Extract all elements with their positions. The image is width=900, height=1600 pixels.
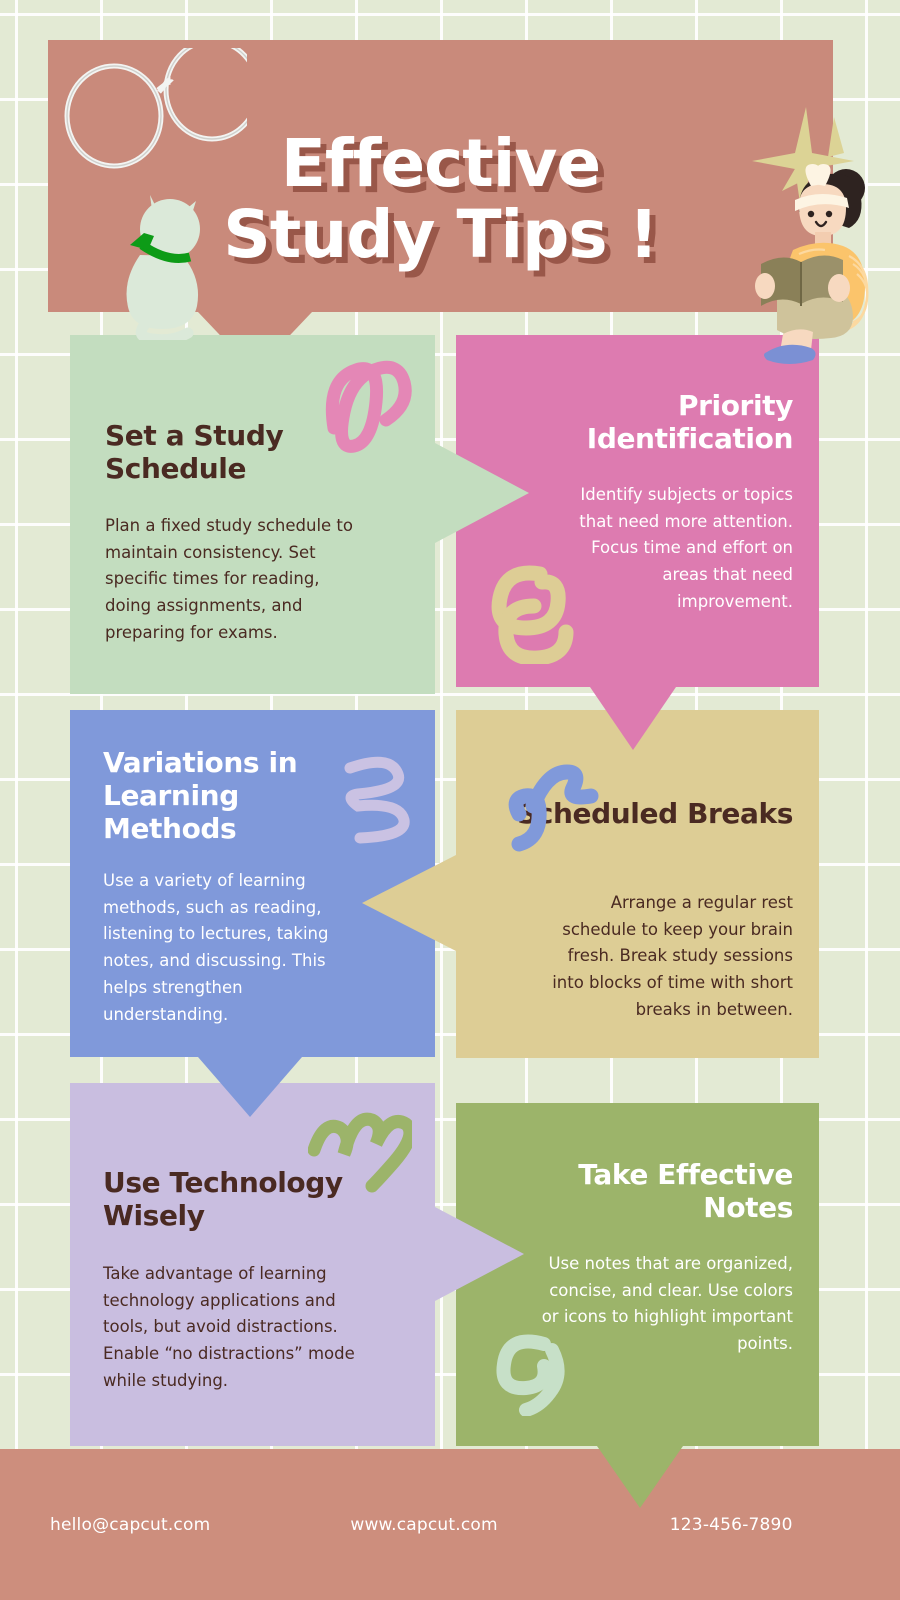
card5-title: Use Technology Wisely — [103, 1167, 393, 1233]
footer-bar: hello@capcut.com www.capcut.com 123-456-… — [0, 1449, 900, 1600]
footer-website[interactable]: www.capcut.com — [350, 1515, 497, 1535]
card6-text: Use notes that are organized, concise, a… — [528, 1251, 793, 1358]
card5-arrow-pointer — [435, 1207, 524, 1301]
title-line-1: Effective — [281, 125, 600, 202]
card-set-a-study-schedule[interactable]: Set a Study Schedule Plan a fixed study … — [70, 335, 435, 694]
card4-arrow-pointer — [362, 855, 456, 951]
card1-title: Set a Study Schedule — [105, 420, 355, 486]
card1-arrow-pointer — [435, 443, 529, 543]
card3-title: Variations in Learning Methods — [103, 747, 353, 845]
footer-contact-row: hello@capcut.com www.capcut.com 123-456-… — [0, 1515, 900, 1535]
footer-email[interactable]: hello@capcut.com — [50, 1515, 210, 1535]
card-scheduled-breaks[interactable]: Scheduled Breaks Arrange a regular rest … — [456, 710, 819, 1058]
card-use-technology-wisely[interactable]: Use Technology Wisely Take advantage of … — [70, 1083, 435, 1446]
card4-text: Arrange a regular rest schedule to keep … — [533, 890, 793, 1024]
card2-title: Priority Identification — [493, 390, 793, 456]
card2-arrow-pointer — [590, 687, 676, 750]
footer-phone[interactable]: 123-456-7890 — [670, 1515, 793, 1535]
card6-title: Take Effective Notes — [493, 1159, 793, 1225]
card3-text: Use a variety of learning methods, such … — [103, 868, 361, 1028]
infographic-page: HOME Effective Study Tips ! Set a Study … — [0, 0, 900, 1600]
title-line-2: Study Tips ! — [48, 199, 833, 270]
card1-text: Plan a fixed study schedule to maintain … — [105, 513, 367, 647]
card3-arrow-pointer — [198, 1057, 302, 1117]
card6-arrow-pointer — [597, 1446, 683, 1508]
reading-girl-illustration: HOME — [753, 160, 893, 370]
card5-text: Take advantage of learning technology ap… — [103, 1261, 379, 1395]
header-banner: HOME Effective Study Tips ! — [48, 40, 833, 312]
page-title: Effective Study Tips ! — [48, 128, 833, 271]
card2-text: Identify subjects or topics that need mo… — [543, 482, 793, 616]
card4-title: Scheduled Breaks — [493, 798, 793, 831]
